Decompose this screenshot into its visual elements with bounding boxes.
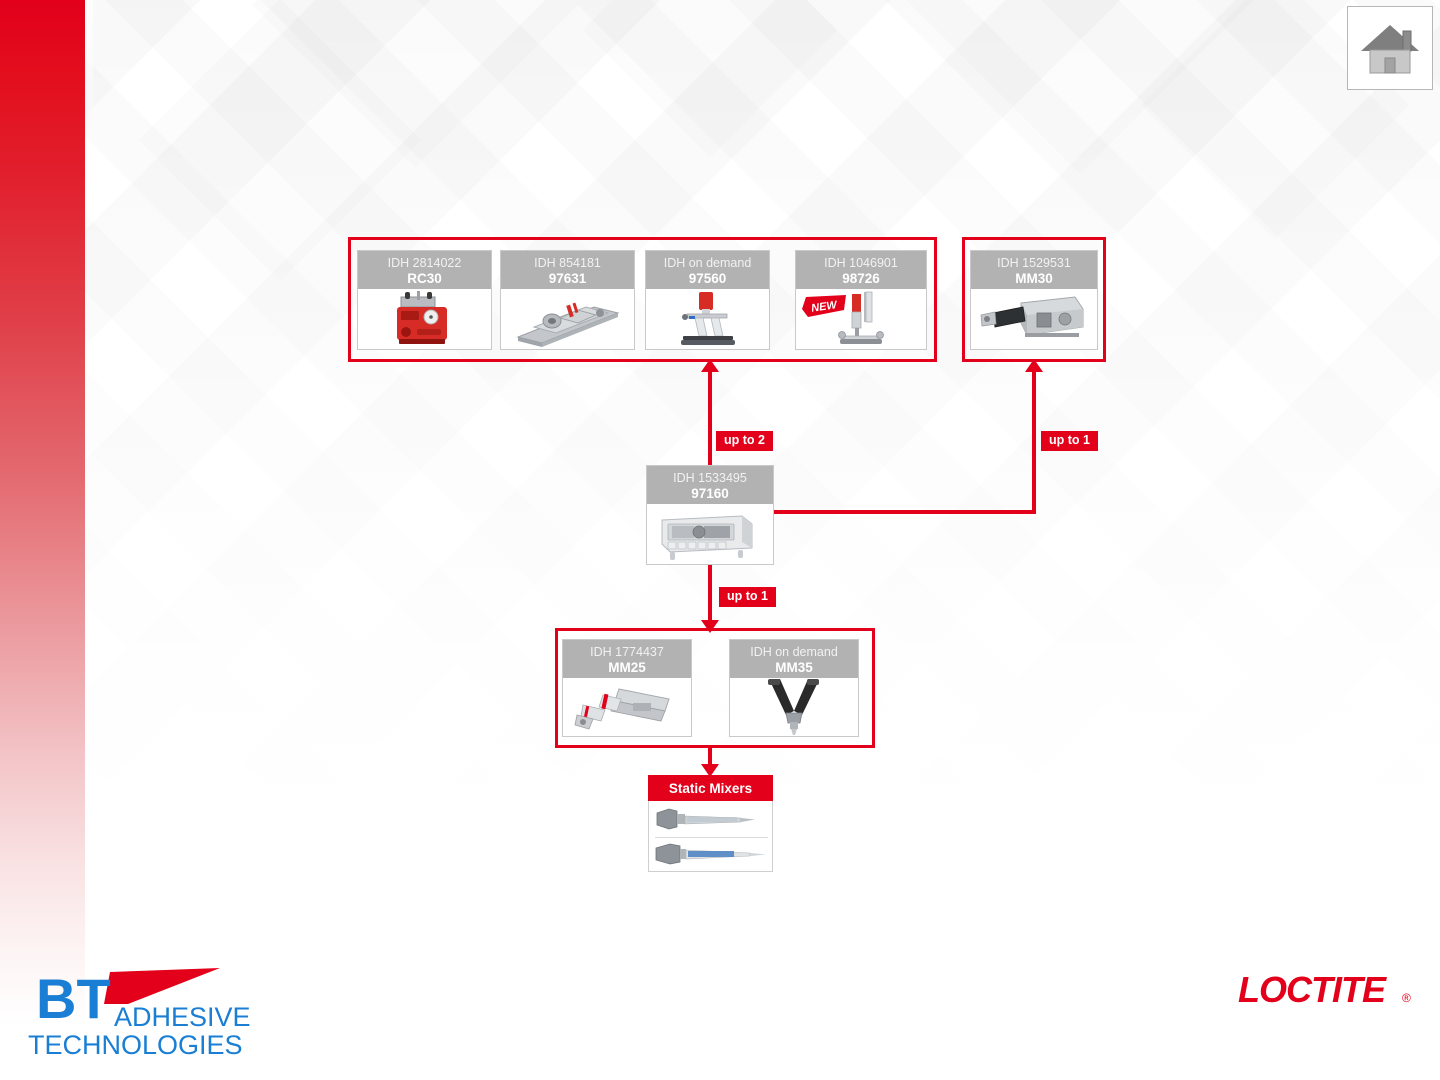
product-name: MM25 xyxy=(565,660,689,676)
static-mixer-short-image xyxy=(655,807,765,838)
product-card-header: IDH 1529531 MM30 xyxy=(971,251,1097,289)
connector-label-up-to-1-bottom: up to 1 xyxy=(719,587,776,607)
product-name: 97560 xyxy=(648,271,767,287)
product-image-mm35-mix-module xyxy=(730,678,858,736)
left-accent-bar xyxy=(0,0,85,1080)
connector-center-to-mm30-vertical xyxy=(1032,372,1036,514)
slide-canvas: up to 2 up to 1 up to 1 IDH 2814022 RC30 xyxy=(0,0,1440,1080)
product-idh-label: IDH on demand xyxy=(732,645,856,660)
bt-adhesive-technologies-logo: BT ADHESIVE TECHNOLOGIES xyxy=(28,960,258,1060)
bt-logo-bt: BT xyxy=(36,967,111,1030)
product-image-mm30-mix-module xyxy=(971,289,1097,349)
product-idh-label: IDH 1774437 xyxy=(565,645,689,660)
product-card-header: IDH 854181 97631 xyxy=(501,251,634,289)
product-name: 98726 xyxy=(798,271,924,287)
product-card-97560[interactable]: IDH on demand 97560 xyxy=(645,250,770,350)
product-card-mm30[interactable]: IDH 1529531 MM30 xyxy=(970,250,1098,350)
connector-center-to-mm30-horizontal xyxy=(774,510,1036,514)
product-name: RC30 xyxy=(360,271,489,287)
product-idh-label: IDH 1529531 xyxy=(973,256,1095,271)
product-image-mm25-mix-module xyxy=(563,678,691,736)
connector-center-to-top-line xyxy=(708,372,712,468)
bt-logo-technologies: TECHNOLOGIES xyxy=(28,1030,243,1060)
product-card-header: IDH 1533495 97160 xyxy=(647,466,773,504)
connector-label-up-to-2: up to 2 xyxy=(716,431,773,451)
new-badge: NEW xyxy=(800,293,848,319)
product-image-linear-rail-dispenser xyxy=(501,289,634,349)
product-image-column-dispenser: NEW xyxy=(796,289,926,349)
left-accent-bar-notch xyxy=(85,0,93,128)
product-card-header: IDH 1046901 98726 xyxy=(796,251,926,289)
product-idh-label: IDH 1533495 xyxy=(649,471,771,486)
connector-center-to-bottom-line xyxy=(708,563,712,623)
product-name: MM35 xyxy=(732,660,856,676)
loctite-logo: LOCTITE ® xyxy=(1238,968,1418,1012)
product-idh-label: IDH 2814022 xyxy=(360,256,489,271)
home-button[interactable] xyxy=(1347,6,1433,90)
product-card-97631[interactable]: IDH 854181 97631 xyxy=(500,250,635,350)
product-name: 97160 xyxy=(649,486,771,502)
static-mixer-divider xyxy=(655,837,768,838)
static-mixers-header[interactable]: Static Mixers xyxy=(648,775,773,801)
home-icon xyxy=(1359,20,1421,76)
product-image-bench-stand-dispenser xyxy=(646,289,769,349)
product-card-header: IDH 1774437 MM25 xyxy=(563,640,691,678)
bt-logo-adhesive: ADHESIVE xyxy=(114,1002,251,1032)
svg-text:NEW: NEW xyxy=(810,299,839,315)
product-card-mm25[interactable]: IDH 1774437 MM25 xyxy=(562,639,692,737)
loctite-logo-registered: ® xyxy=(1402,991,1411,1005)
product-idh-label: IDH 1046901 xyxy=(798,256,924,271)
loctite-logo-text: LOCTITE xyxy=(1238,969,1387,1010)
connector-label-up-to-1-mm30: up to 1 xyxy=(1041,431,1098,451)
product-card-97160[interactable]: IDH 1533495 97160 xyxy=(646,465,774,565)
static-mixers-body[interactable] xyxy=(648,801,773,872)
product-name: MM30 xyxy=(973,271,1095,287)
product-card-98726[interactable]: IDH 1046901 98726 NEW xyxy=(795,250,927,350)
product-idh-label: IDH 854181 xyxy=(503,256,632,271)
product-image-rc30-pump-unit xyxy=(358,289,491,349)
product-card-header: IDH on demand 97560 xyxy=(646,251,769,289)
product-image-97160-control-unit xyxy=(647,504,773,564)
product-card-rc30[interactable]: IDH 2814022 RC30 xyxy=(357,250,492,350)
product-card-header: IDH on demand MM35 xyxy=(730,640,858,678)
product-idh-label: IDH on demand xyxy=(648,256,767,271)
product-card-mm35[interactable]: IDH on demand MM35 xyxy=(729,639,859,737)
static-mixer-long-image xyxy=(654,843,768,872)
product-card-header: IDH 2814022 RC30 xyxy=(358,251,491,289)
product-name: 97631 xyxy=(503,271,632,287)
